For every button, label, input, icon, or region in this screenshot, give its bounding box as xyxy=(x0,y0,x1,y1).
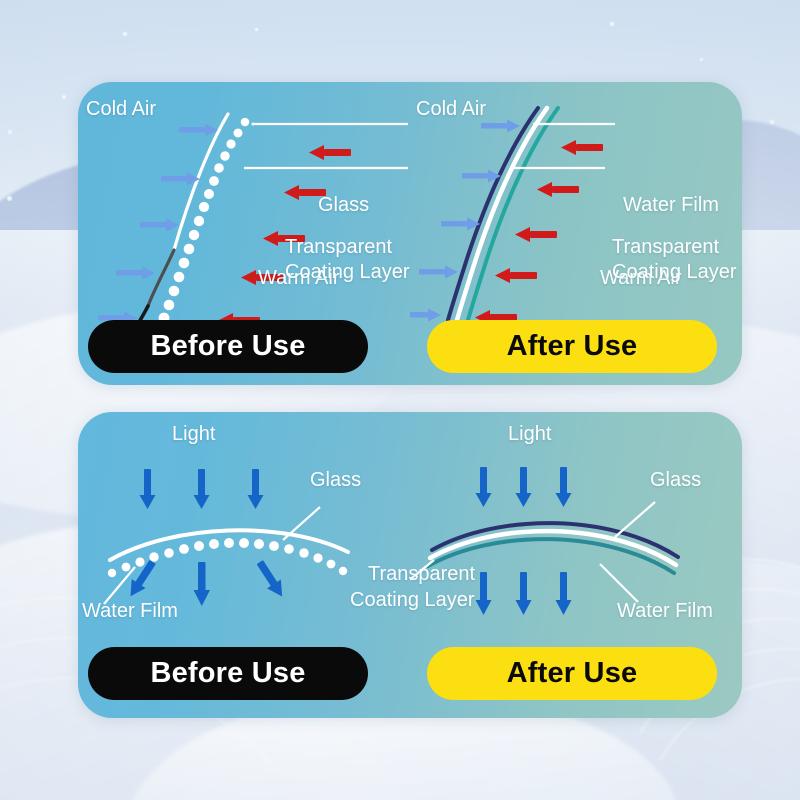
label-coating-line1: Transparent xyxy=(612,235,719,259)
panel-heat-before: Cold Air Warm Air Before Use xyxy=(78,82,410,385)
label-light: Light xyxy=(508,422,551,446)
label-water-film: Water Film xyxy=(82,599,178,623)
label-coating-line2: Coating Layer xyxy=(285,260,410,284)
label-glass: Glass xyxy=(650,468,701,492)
state-pill-before-use[interactable]: Before Use xyxy=(88,647,368,700)
light-in-arrows xyxy=(476,467,572,507)
light-in-arrows xyxy=(140,469,264,509)
label-glass: Glass xyxy=(310,468,361,492)
state-pill-after-use[interactable]: After Use xyxy=(427,320,717,373)
label-light: Light xyxy=(172,422,215,446)
leader-lines xyxy=(244,124,408,168)
label-coating-line1: Transparent xyxy=(285,235,392,259)
card-light-transmission: Light Glass Water Film Before Use xyxy=(78,412,742,718)
water-droplets xyxy=(159,118,250,324)
light-out-arrows xyxy=(476,572,572,615)
label-cold-air: Cold Air xyxy=(416,97,486,121)
card-heat-insulation: Cold Air Warm Air Before Use Glass Trans… xyxy=(78,82,742,385)
label-coating-line1: Transparent xyxy=(368,562,475,586)
label-water-film: Water Film xyxy=(617,599,713,623)
label-coating-line2: Coating Layer xyxy=(612,260,737,284)
state-pill-after-use[interactable]: After Use xyxy=(427,647,717,700)
label-water-film: Water Film xyxy=(623,193,719,217)
label-glass: Glass xyxy=(318,193,369,217)
panel-heat-after: Cold Air Warm Air Water Film Transparent… xyxy=(410,82,742,385)
label-cold-air: Cold Air xyxy=(86,97,156,121)
state-pill-before-use[interactable]: Before Use xyxy=(88,320,368,373)
label-coating-line2: Coating Layer xyxy=(350,588,475,612)
panel-light-before: Light Glass Water Film Before Use xyxy=(78,412,410,718)
